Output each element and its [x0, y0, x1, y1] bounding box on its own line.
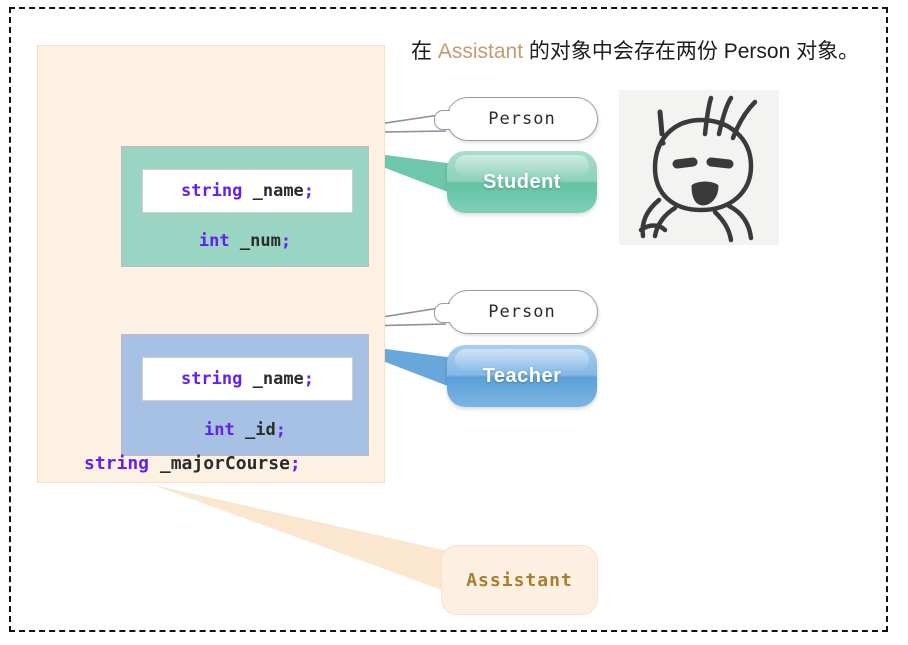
student-subobject-box: string _name; int _num;: [121, 146, 369, 267]
person-label-text: Person: [488, 109, 555, 129]
student-label-text: Student: [483, 171, 561, 194]
assistant-object-box: string _name; int _num; string _name; in…: [37, 45, 385, 483]
caption-prefix: 在: [411, 40, 438, 63]
pointer-wedge-assistant: [150, 484, 470, 600]
caption-suffix: 的对象中会存在两份 Person 对象。: [523, 40, 859, 63]
teacher-subobject-box: string _name; int _id;: [121, 334, 369, 456]
meme-figure: [619, 90, 779, 245]
teacher-id-field: int _id;: [204, 420, 286, 440]
major-course-field: string _majorCourse;: [84, 453, 301, 474]
student-num-field: int _num;: [199, 231, 291, 251]
student-name-field: string _name;: [181, 181, 314, 201]
assistant-own-member-line: string _majorCourse;: [84, 453, 301, 474]
teacher-class-label[interactable]: Teacher: [447, 345, 597, 407]
callout-tail-icon: [434, 110, 450, 130]
teacher-inherited-member-box: string _name;: [142, 357, 353, 401]
student-inherited-member-box: string _name;: [142, 169, 353, 213]
shocked-rabbit-icon: [619, 90, 779, 245]
person-label-teacher[interactable]: Person: [446, 290, 598, 334]
caption-text: 在 Assistant 的对象中会存在两份 Person 对象。: [411, 37, 859, 67]
callout-tail-icon: [434, 303, 450, 323]
teacher-own-member-line: int _id;: [122, 420, 368, 440]
assistant-class-label[interactable]: Assistant: [441, 545, 598, 615]
person-label-student[interactable]: Person: [446, 97, 598, 141]
assistant-label-text: Assistant: [466, 570, 573, 591]
teacher-name-field: string _name;: [181, 369, 314, 389]
caption-highlight: Assistant: [438, 40, 523, 63]
student-class-label[interactable]: Student: [447, 151, 597, 213]
diagram-canvas: 在 Assistant 的对象中会存在两份 Person 对象。 string …: [0, 0, 908, 645]
teacher-label-text: Teacher: [483, 365, 562, 388]
person-label-text: Person: [488, 302, 555, 322]
student-own-member-line: int _num;: [122, 231, 368, 251]
